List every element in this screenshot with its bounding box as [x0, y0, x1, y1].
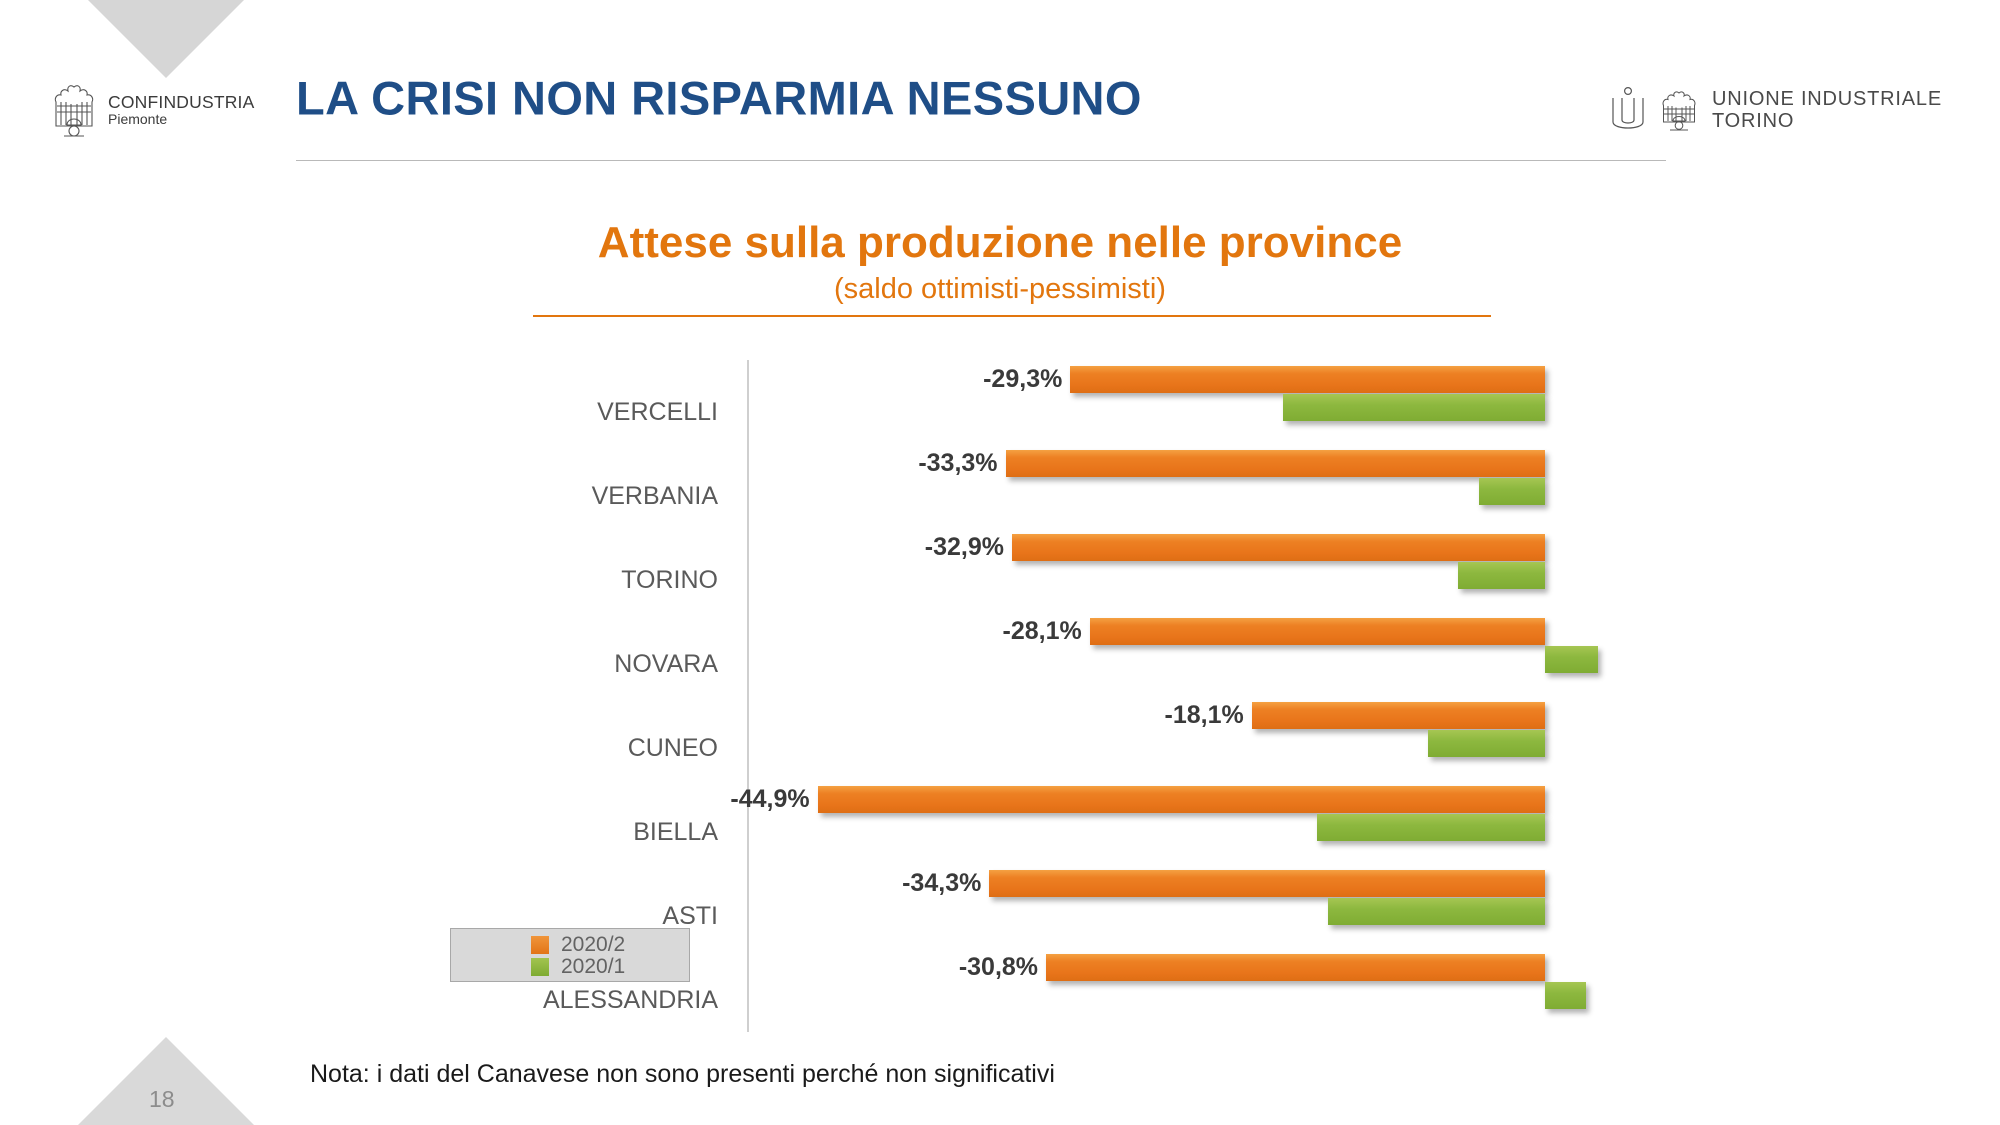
chart-row: TORINO-32,9% — [0, 528, 2000, 612]
chart-title-underline — [533, 315, 1491, 317]
bar-value-label: -18,1% — [1156, 702, 1244, 729]
category-label: TORINO — [621, 566, 718, 595]
chart-legend[interactable]: 2020/2 2020/1 — [450, 928, 690, 982]
bar-value-label: -33,3% — [910, 450, 998, 477]
confindustria-eagle-icon — [1657, 89, 1701, 131]
category-label: BIELLA — [633, 818, 718, 847]
category-label: NOVARA — [614, 650, 718, 679]
bar-2020-2[interactable] — [1046, 954, 1545, 981]
legend-label-2020-2: 2020/2 — [561, 933, 625, 957]
chart-subtitle: (saldo ottimisti-pessimisti) — [0, 273, 2000, 306]
chart-row: VERCELLI-29,3% — [0, 360, 2000, 444]
category-label: VERCELLI — [597, 398, 718, 427]
category-label: ALESSANDRIA — [543, 986, 718, 1015]
bar-2020-2[interactable] — [1090, 618, 1545, 645]
logo-right-line1: UNIONE INDUSTRIALE — [1712, 88, 1942, 110]
category-label: VERBANIA — [592, 482, 718, 511]
chart-row: ALESSANDRIA-30,8% — [0, 948, 2000, 1032]
footnote: Nota: i dati del Canavese non sono prese… — [310, 1060, 1055, 1089]
legend-label-2020-1: 2020/1 — [561, 955, 625, 979]
legend-swatch-2020-1 — [531, 958, 549, 976]
unione-u-monogram-icon — [1608, 86, 1648, 134]
category-label: CUNEO — [628, 734, 718, 763]
bar-value-label: -29,3% — [974, 366, 1062, 393]
bar-value-label: -32,9% — [916, 534, 1004, 561]
bar-chart: VERCELLI-29,3%VERBANIA-33,3%TORINO-32,9%… — [0, 360, 2000, 1035]
legend-swatch-2020-2 — [531, 936, 549, 954]
bar-value-label: -34,3% — [893, 870, 981, 897]
page-number: 18 — [149, 1086, 175, 1113]
bar-2020-1[interactable] — [1545, 982, 1586, 1009]
bar-2020-1[interactable] — [1328, 898, 1545, 925]
category-label: ASTI — [662, 902, 718, 931]
logo-left-line2: Piemonte — [108, 112, 255, 127]
top-decorative-triangle — [88, 0, 244, 78]
chart-row: BIELLA-44,9% — [0, 780, 2000, 864]
bar-2020-1[interactable] — [1283, 394, 1545, 421]
chart-title: Attese sulla produzione nelle province — [0, 218, 2000, 268]
bar-value-label: -30,8% — [950, 954, 1038, 981]
bar-2020-1[interactable] — [1545, 646, 1598, 673]
bar-value-label: -28,1% — [994, 618, 1082, 645]
bar-2020-1[interactable] — [1317, 814, 1545, 841]
confindustria-eagle-icon — [48, 82, 100, 138]
header-divider — [296, 160, 1666, 161]
confindustria-piemonte-logo: CONFINDUSTRIA Piemonte — [48, 82, 255, 138]
bar-2020-2[interactable] — [1070, 366, 1545, 393]
bar-2020-2[interactable] — [1012, 534, 1545, 561]
chart-row: ASTI-34,3% — [0, 864, 2000, 948]
chart-row: NOVARA-28,1% — [0, 612, 2000, 696]
bar-2020-2[interactable] — [1252, 702, 1545, 729]
chart-row: CUNEO-18,1% — [0, 696, 2000, 780]
bar-2020-2[interactable] — [989, 870, 1545, 897]
legend-item-2020-2[interactable]: 2020/2 — [451, 934, 689, 956]
bar-value-label: -44,9% — [722, 786, 810, 813]
slide-title: LA CRISI NON RISPARMIA NESSUNO — [296, 71, 1142, 126]
bar-2020-2[interactable] — [1006, 450, 1545, 477]
logo-left-line1: CONFINDUSTRIA — [108, 93, 255, 111]
unione-industriale-torino-logo: UNIONE INDUSTRIALE TORINO — [1608, 86, 1942, 134]
bar-2020-1[interactable] — [1428, 730, 1545, 757]
logo-right-line2: TORINO — [1712, 110, 1942, 132]
chart-title-text: Attese sulla produzione nelle province — [598, 218, 1402, 268]
bar-2020-2[interactable] — [818, 786, 1545, 813]
chart-row: VERBANIA-33,3% — [0, 444, 2000, 528]
legend-item-2020-1[interactable]: 2020/1 — [451, 956, 689, 978]
bar-2020-1[interactable] — [1479, 478, 1545, 505]
bar-2020-1[interactable] — [1458, 562, 1545, 589]
